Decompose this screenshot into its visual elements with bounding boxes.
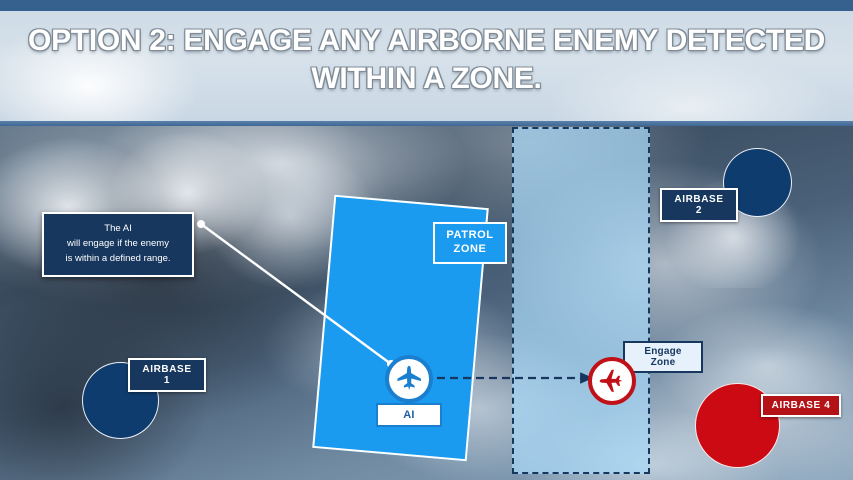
title-banner [0, 11, 853, 121]
title-banner-underline [0, 121, 853, 126]
patrol-zone-label[interactable]: PATROL ZONE [433, 222, 507, 264]
engage-zone-rectangle[interactable] [512, 127, 650, 474]
airbase-2-label[interactable]: AIRBASE 2 [660, 188, 738, 222]
slide-canvas: OPTION 2: ENGAGE ANY AIRBORNE ENEMY DETE… [0, 0, 853, 480]
engage-zone-label[interactable]: Engage Zone [623, 341, 703, 373]
top-accent-strip [0, 0, 853, 11]
ai-behavior-callout: The AI will engage if the enemy is withi… [42, 212, 194, 277]
fighter-jet-blue-icon[interactable] [385, 355, 433, 403]
fighter-jet-red-icon[interactable] [588, 357, 636, 405]
airbase-1-label[interactable]: AIRBASE 1 [128, 358, 206, 392]
ai-aircraft-label[interactable]: AI [376, 403, 442, 427]
airbase-4-label[interactable]: AIRBASE 4 [761, 394, 841, 417]
